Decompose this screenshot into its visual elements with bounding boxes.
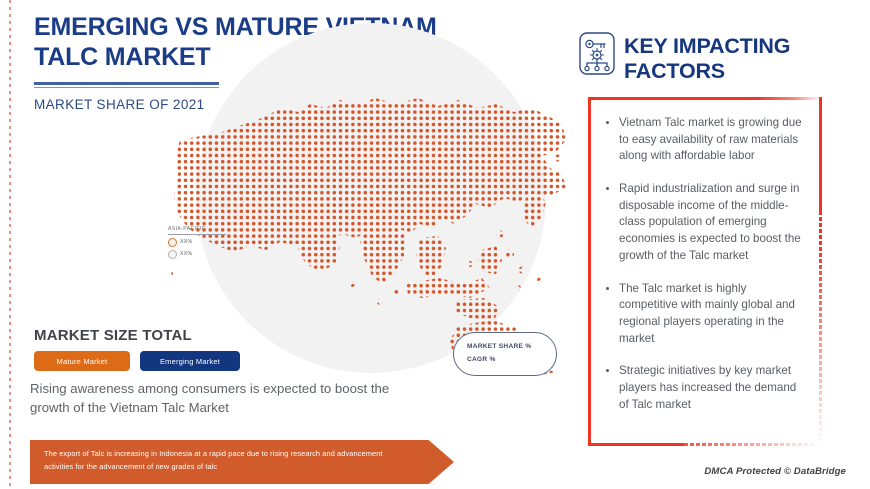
export-note-text: The export of Talc is increasing in Indo… xyxy=(44,448,384,474)
left-dotted-border xyxy=(9,0,11,489)
list-item: Vietnam Talc market is growing due to ea… xyxy=(605,115,807,165)
map-region-legend: ASIA-PACIFIC XX% XX% xyxy=(168,226,234,259)
legend-button-emerging-market[interactable]: Emerging Market xyxy=(140,351,240,371)
market-size-total-heading: MARKET SIZE TOTAL xyxy=(34,327,192,344)
list-item: Strategic initiatives by key market play… xyxy=(605,363,807,413)
box-border-left xyxy=(588,97,591,446)
callout-cagr-label: CAGR % xyxy=(467,354,556,367)
map-legend-value: XX% xyxy=(180,239,192,245)
factors-list: Vietnam Talc market is growing due to ea… xyxy=(605,115,807,429)
map-legend-value: XX% xyxy=(180,251,192,257)
export-note-banner: The export of Talc is increasing in Indo… xyxy=(30,440,454,484)
box-border-bottom-solid xyxy=(588,443,684,446)
box-border-right-solid xyxy=(819,97,822,215)
infographic-page: EMERGING VS MATURE VIETNAM TALC MARKET M… xyxy=(0,0,870,489)
map-legend-row: XX% xyxy=(168,250,234,259)
key-impacting-factors-box: Vietnam Talc market is growing due to ea… xyxy=(588,97,822,446)
key-network-icon xyxy=(578,31,616,76)
legend-marker-emerging-icon xyxy=(168,250,177,259)
key-impacting-factors-title: KEY IMPACTING FACTORS xyxy=(624,34,854,84)
list-item: Rapid industrialization and surge in dis… xyxy=(605,181,807,264)
dmca-credit: DMCA Protected © DataBridge xyxy=(704,466,846,477)
callout-market-share-label: MARKET SHARE % xyxy=(467,341,556,354)
lead-paragraph: Rising awareness among consumers is expe… xyxy=(30,380,430,417)
legend-marker-mature-icon xyxy=(168,238,177,247)
legend-button-mature-market[interactable]: Mature Market xyxy=(34,351,130,371)
market-legend-buttons: Mature Market Emerging Market xyxy=(34,351,240,371)
map-legend-title: ASIA-PACIFIC xyxy=(168,226,226,235)
list-item: The Talc market is highly competitive wi… xyxy=(605,281,807,348)
market-share-callout: MARKET SHARE % CAGR % xyxy=(453,332,557,376)
map-legend-row: XX% xyxy=(168,238,234,247)
box-border-top xyxy=(588,97,822,100)
